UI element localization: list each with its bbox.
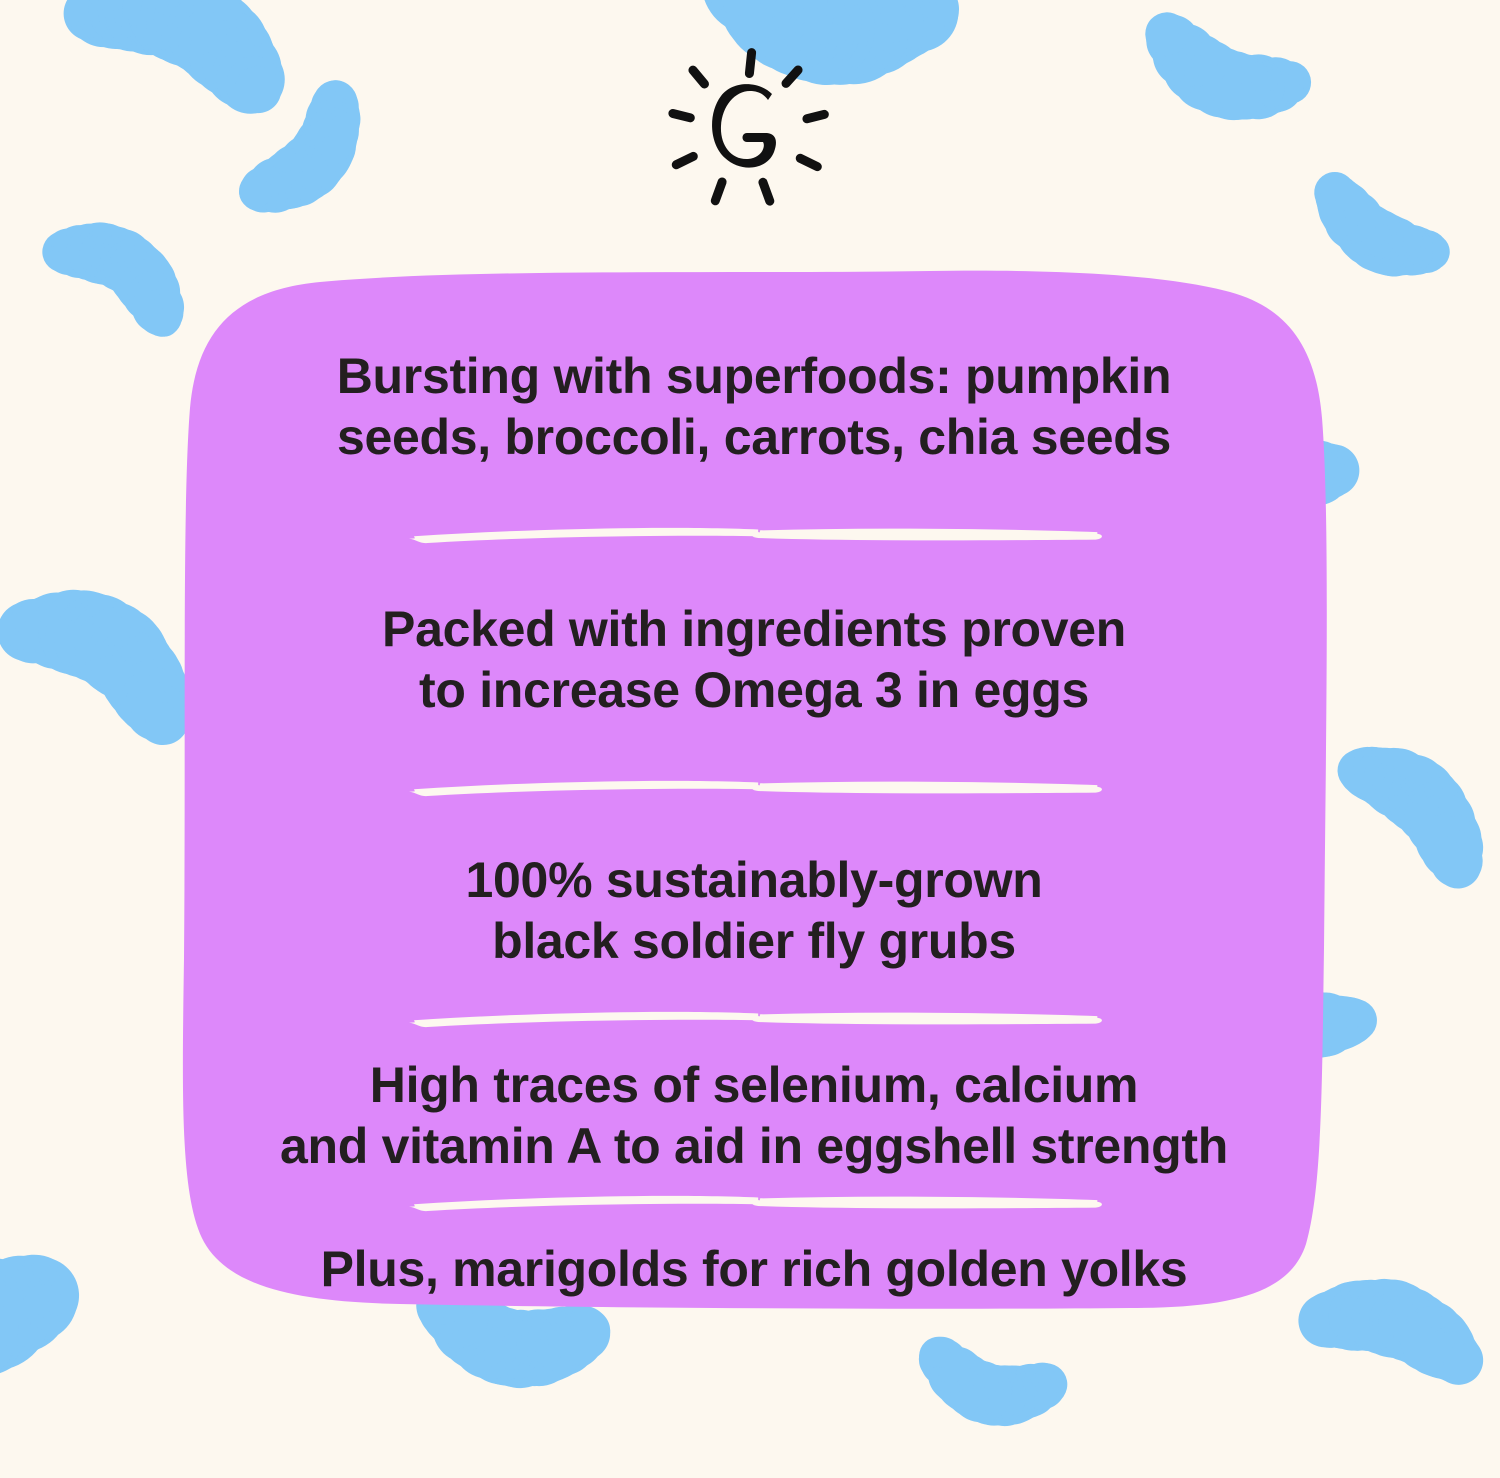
grub-blob-icon (0, 922, 1, 1025)
brand-logo (0, 46, 1500, 221)
divider-stroke-2 (339, 775, 1169, 805)
divider-stroke-3 (339, 1006, 1169, 1036)
grub-blob-icon (0, 1207, 85, 1413)
divider-stroke-4 (339, 1190, 1169, 1220)
grub-blob-icon (908, 1333, 1072, 1440)
sun-g-logo-icon (655, 46, 845, 216)
claim-eggshell: High traces of selenium, calcium and vit… (186, 1055, 1322, 1177)
claims-list: Bursting with superfoods: pumpkin seeds,… (186, 300, 1322, 1300)
grub-blob-icon (1324, 713, 1500, 899)
claim-superfoods: Bursting with superfoods: pumpkin seeds,… (186, 346, 1322, 468)
divider-stroke-1 (339, 522, 1169, 552)
claim-marigolds: Plus, marigolds for rich golden yolks (186, 1239, 1322, 1300)
claim-grubs: 100% sustainably-grown black soldier fly… (186, 850, 1322, 972)
poster-canvas: Bursting with superfoods: pumpkin seeds,… (0, 0, 1500, 1478)
claim-omega3: Packed with ingredients proven to increa… (186, 599, 1322, 721)
